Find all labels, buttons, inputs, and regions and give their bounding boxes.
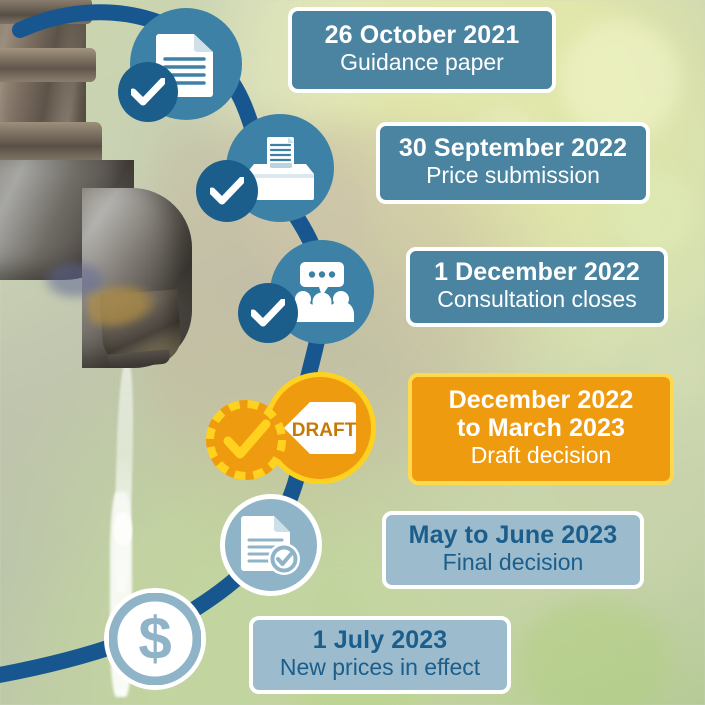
- timeline-connector-path: [0, 0, 705, 705]
- check-badge-icon: [238, 283, 298, 343]
- milestone-description: Guidance paper: [310, 49, 534, 75]
- milestone-description: Draft decision: [430, 442, 652, 468]
- milestone-date: 30 September 2022: [398, 134, 628, 162]
- draft-tag-icon: DRAFT: [282, 400, 358, 456]
- milestone-date-line-1: December 2022: [430, 386, 652, 414]
- milestone-date: 26 October 2021: [310, 21, 534, 49]
- milestone-label-price-submission[interactable]: 30 September 2022 Price submission: [376, 122, 650, 204]
- dashed-check-badge-icon: [206, 400, 286, 480]
- milestone-icon-circle: [220, 494, 322, 596]
- people-speech-icon: [288, 261, 356, 323]
- check-icon: [210, 177, 244, 205]
- document-approved-icon: [240, 514, 302, 576]
- dollar-coin-icon: $: [109, 593, 201, 685]
- check-icon: [131, 78, 165, 106]
- milestone-label-new-prices[interactable]: 1 July 2023 New prices in effect: [249, 616, 511, 694]
- dollar-sign-glyph: $: [138, 605, 171, 672]
- milestone-label-guidance-paper[interactable]: 26 October 2021 Guidance paper: [288, 7, 556, 93]
- milestone-description: Price submission: [398, 162, 628, 188]
- milestone-date: 1 July 2023: [271, 626, 489, 654]
- check-badge-icon: [118, 62, 178, 122]
- check-icon: [251, 299, 285, 327]
- milestone-date: May to June 2023: [404, 521, 622, 549]
- milestone-icon-circle: $: [104, 588, 206, 690]
- milestone-description: New prices in effect: [271, 654, 489, 680]
- milestone-date: 1 December 2022: [428, 258, 646, 286]
- draft-tag-text: DRAFT: [292, 420, 357, 441]
- milestone-label-consultation-closes[interactable]: 1 December 2022 Consultation closes: [406, 247, 668, 327]
- milestone-date-line-2: to March 2023: [430, 414, 652, 442]
- milestone-label-final-decision[interactable]: May to June 2023 Final decision: [382, 511, 644, 589]
- infographic-timeline: 26 October 2021 Guidance paper: [0, 0, 705, 705]
- milestone-description: Final decision: [404, 549, 622, 575]
- milestone-description: Consultation closes: [428, 286, 646, 312]
- milestone-label-draft-decision[interactable]: December 2022 to March 2023 Draft decisi…: [408, 373, 674, 485]
- dashed-check-icon: [206, 400, 286, 480]
- check-badge-icon: [196, 160, 258, 222]
